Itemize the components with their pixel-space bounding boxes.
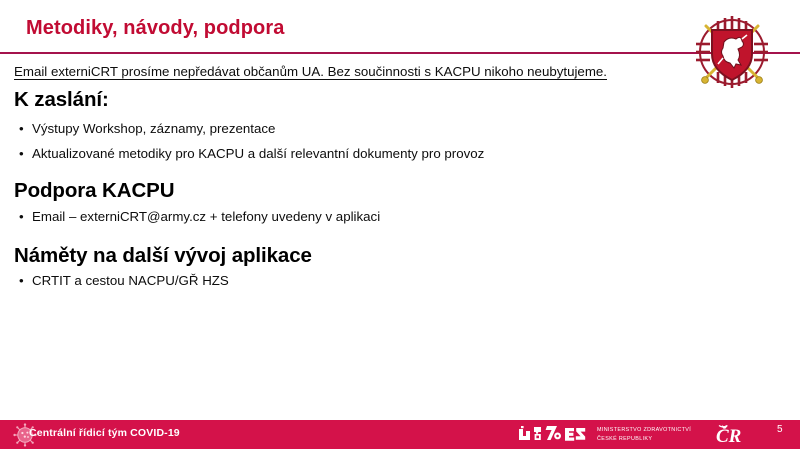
bullet-dot-icon: • bbox=[19, 207, 24, 227]
page-title: Metodiky, návody, podpora bbox=[26, 17, 284, 40]
section-heading: Náměty na další vývoj aplikace bbox=[0, 244, 800, 268]
list-item: • Aktualizované metodiky pro KACPU a dal… bbox=[0, 144, 800, 164]
section-podpora-kacpu: Podpora KACPU • Email – externiCRT@army.… bbox=[0, 179, 800, 227]
slide-body: K zaslání: • Výstupy Workshop, záznamy, … bbox=[0, 88, 800, 291]
list-item-label: CRTIT a cestou NACPU/GŘ HZS bbox=[32, 273, 229, 288]
page-number: 5 bbox=[777, 424, 783, 435]
slide-root: Metodiky, návody, podpora bbox=[0, 0, 800, 449]
list-item-label: Email – externiCRT@army.cz + telefony uv… bbox=[32, 209, 380, 224]
section-namety-na-dalsi-vyvoj: Náměty na další vývoj aplikace • CRTIT a… bbox=[0, 244, 800, 291]
ministry-label: MINISTERSTVO ZDRAVOTNICTVÍ ČESKÉ REPUBLI… bbox=[597, 426, 691, 444]
bullet-dot-icon: • bbox=[19, 119, 24, 139]
footer-team-label: Centrální řídicí tým COVID-19 bbox=[29, 427, 180, 439]
bullet-dot-icon: • bbox=[19, 144, 24, 164]
list-item-label: Výstupy Workshop, záznamy, prezentace bbox=[32, 121, 275, 136]
list-item: • CRTIT a cestou NACPU/GŘ HZS bbox=[0, 271, 800, 291]
army-emblem-icon bbox=[678, 8, 786, 96]
cr-logo-icon: ČR bbox=[716, 424, 762, 446]
bullet-dot-icon: • bbox=[19, 271, 24, 291]
section-heading: Podpora KACPU bbox=[0, 179, 800, 203]
section-k-zaslani: K zaslání: • Výstupy Workshop, záznamy, … bbox=[0, 88, 800, 164]
ministry-line-2: ČESKÉ REPUBLIKY bbox=[597, 435, 691, 444]
lead-note-text: Email externiCRT prosíme nepředávat obča… bbox=[14, 64, 607, 79]
list-item-label: Aktualizované metodiky pro KACPU a další… bbox=[32, 146, 484, 161]
ministry-line-1: MINISTERSTVO ZDRAVOTNICTVÍ bbox=[597, 426, 691, 435]
bullet-list: • CRTIT a cestou NACPU/GŘ HZS bbox=[0, 271, 800, 291]
list-item: • Výstupy Workshop, záznamy, prezentace bbox=[0, 119, 800, 139]
bullet-list: • Email – externiCRT@army.cz + telefony … bbox=[0, 207, 800, 227]
ministry-pictograms-icon bbox=[519, 426, 591, 444]
svg-text:ČR: ČR bbox=[716, 425, 741, 446]
list-item: • Email – externiCRT@army.cz + telefony … bbox=[0, 207, 800, 227]
bullet-list: • Výstupy Workshop, záznamy, prezentace … bbox=[0, 119, 800, 164]
